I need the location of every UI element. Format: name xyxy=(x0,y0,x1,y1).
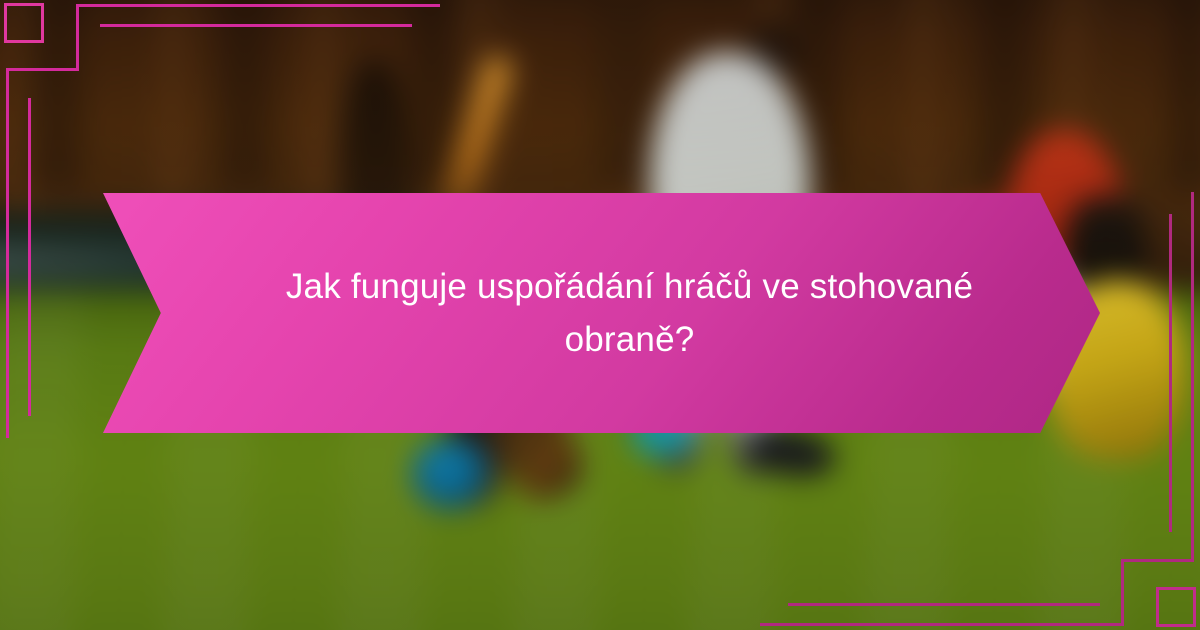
headline-ribbon-banner: Jak funguje uspořádání hráčů ve stohovan… xyxy=(103,193,1100,433)
corner-line-elbow-horizontal xyxy=(1121,559,1194,562)
corner-line-elbow-vertical xyxy=(1121,560,1124,626)
corner-frame-bottom-right xyxy=(1024,458,1200,630)
corner-line-top-inner xyxy=(100,24,412,27)
corner-line-top-outer xyxy=(78,4,440,7)
corner-line-elbow-horizontal xyxy=(6,68,79,71)
social-card-canvas: Jak funguje uspořádání hráčů ve stohovan… xyxy=(0,0,1200,630)
corner-line-right-inner xyxy=(1169,214,1172,532)
corner-line-elbow-vertical xyxy=(76,4,79,70)
corner-square-icon xyxy=(1156,587,1196,627)
corner-frame-top-left xyxy=(0,0,176,172)
corner-line-bottom-inner xyxy=(788,603,1100,606)
headline-title: Jak funguje uspořádání hráčů ve stohovan… xyxy=(250,260,1010,366)
corner-line-right-outer xyxy=(1191,192,1194,562)
corner-line-left-inner xyxy=(28,98,31,416)
headline-text-wrap: Jak funguje uspořádání hráčů ve stohovan… xyxy=(194,260,1010,366)
corner-square-icon xyxy=(4,3,44,43)
corner-line-left-outer xyxy=(6,68,9,438)
corner-line-bottom-outer xyxy=(760,623,1122,626)
